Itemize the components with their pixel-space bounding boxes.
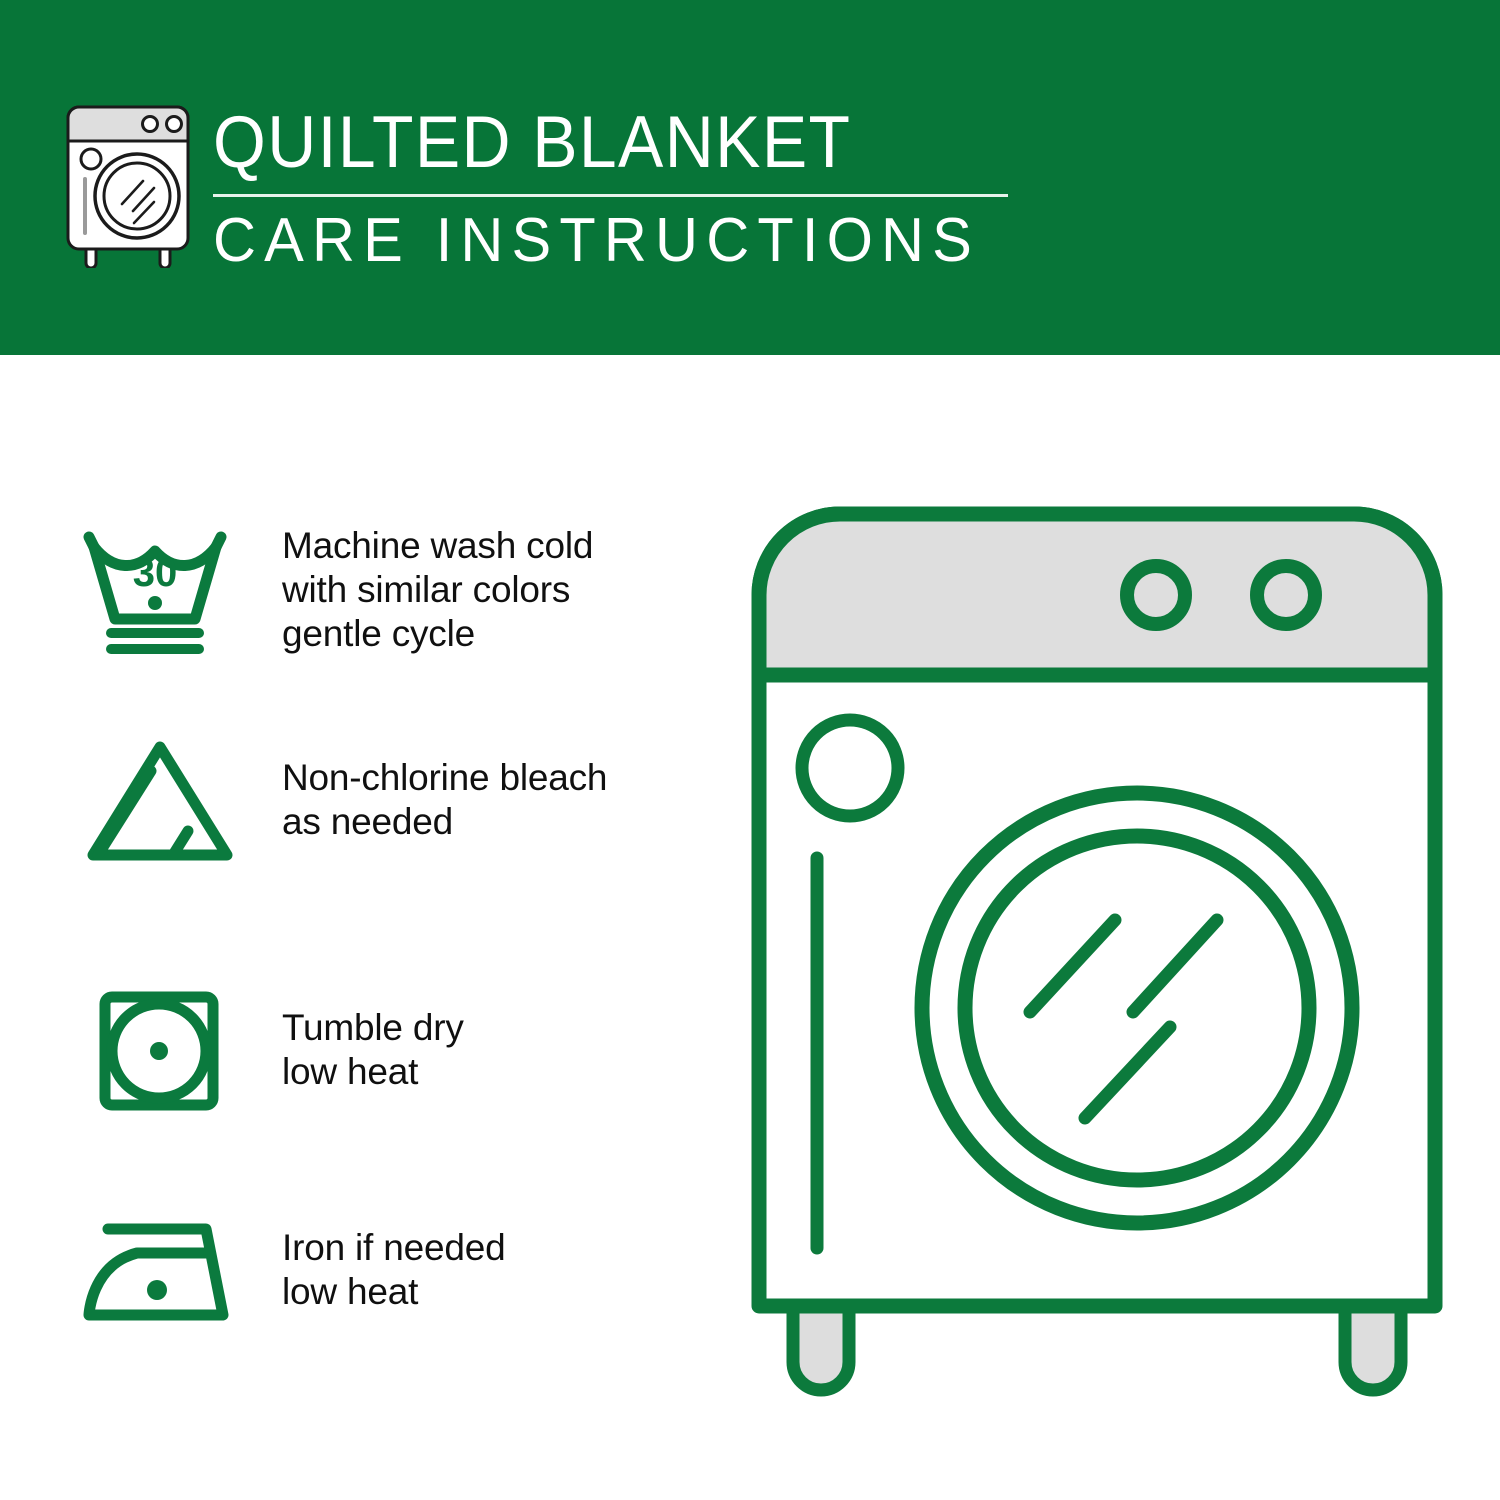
- care-line: as needed: [282, 800, 607, 844]
- care-line: Machine wash cold: [282, 524, 593, 568]
- care-item-machine-wash: 30 Machine wash cold with similar colors…: [0, 515, 740, 665]
- care-line: Tumble dry: [282, 1006, 464, 1050]
- care-item-label: Non-chlorine bleach as needed: [282, 756, 607, 844]
- care-line: Iron if needed: [282, 1226, 505, 1270]
- care-line: low heat: [282, 1050, 464, 1094]
- wash-temperature-value: 30: [133, 551, 178, 595]
- care-line: low heat: [282, 1270, 505, 1314]
- tumble-dry-low-heat-icon: [70, 975, 250, 1125]
- care-item-label: Iron if needed low heat: [282, 1226, 505, 1314]
- non-chlorine-bleach-triangle-icon: [70, 725, 250, 875]
- header-banner: QUILTED BLANKET CARE INSTRUCTIONS: [0, 0, 1500, 355]
- care-item-label: Tumble dry low heat: [282, 1006, 464, 1094]
- dispenser-circle: [802, 720, 898, 816]
- wash-tub-30-gentle-icon: 30: [70, 515, 250, 665]
- care-instructions-page: QUILTED BLANKET CARE INSTRUCTIONS 30: [0, 0, 1500, 1500]
- control-knob: [1257, 566, 1315, 624]
- header-text-block: QUILTED BLANKET CARE INSTRUCTIONS: [213, 100, 1033, 278]
- care-item-iron: Iron if needed low heat: [0, 1195, 740, 1345]
- care-item-tumble-dry: Tumble dry low heat: [0, 975, 740, 1125]
- iron-low-heat-icon: [70, 1195, 250, 1345]
- control-knob: [1127, 566, 1185, 624]
- washing-machine-icon: [62, 103, 194, 268]
- care-line: Non-chlorine bleach: [282, 756, 607, 800]
- care-item-label: Machine wash cold with similar colors ge…: [282, 524, 593, 656]
- page-title: QUILTED BLANKET: [213, 100, 976, 186]
- page-subtitle: CARE INSTRUCTIONS: [213, 204, 1000, 278]
- front-load-washing-machine-illustration: [745, 500, 1445, 1420]
- care-item-bleach: Non-chlorine bleach as needed: [0, 725, 740, 875]
- care-line: gentle cycle: [282, 612, 593, 656]
- care-symbol-list: 30 Machine wash cold with similar colors…: [0, 355, 740, 1500]
- care-line: with similar colors: [282, 568, 593, 612]
- title-divider: [213, 194, 1008, 197]
- control-panel: [759, 514, 1435, 675]
